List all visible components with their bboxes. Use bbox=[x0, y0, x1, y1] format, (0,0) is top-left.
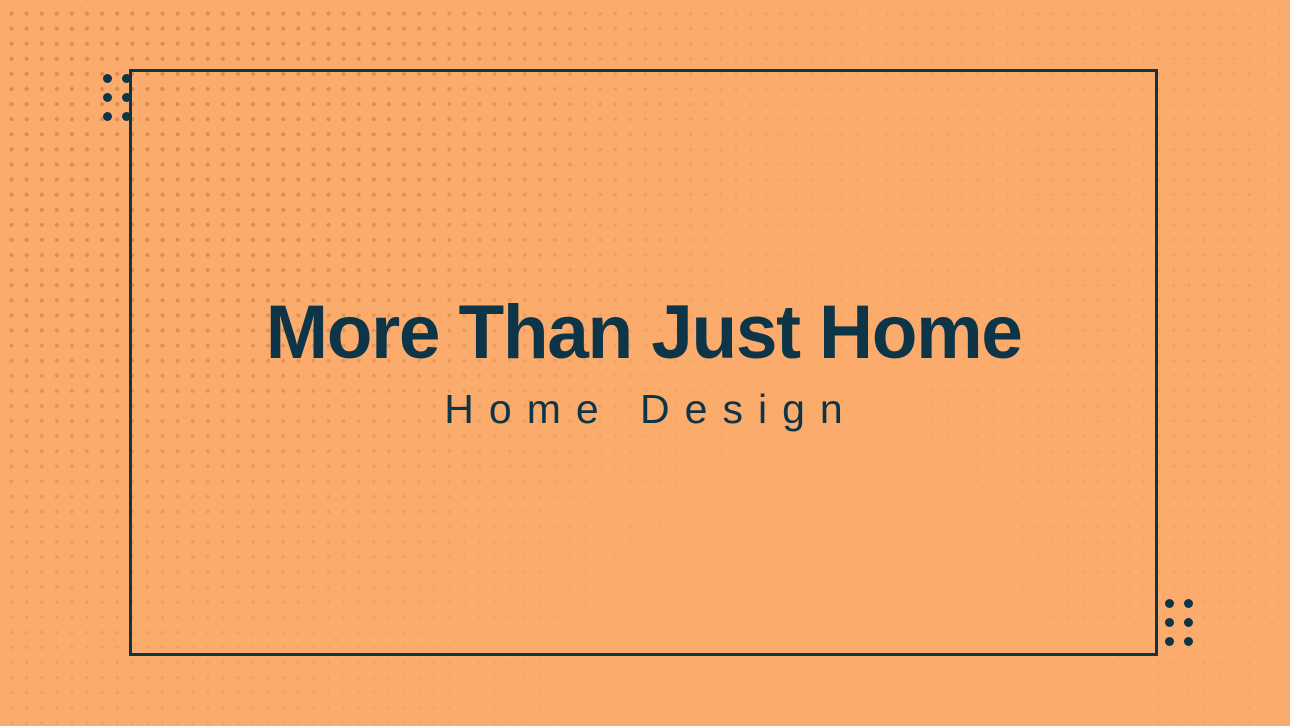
presentation-slide: More Than Just Home Home Design bbox=[0, 0, 1290, 726]
decorative-dot bbox=[1184, 618, 1193, 627]
decorative-dot bbox=[1184, 637, 1193, 646]
decorative-dot-cluster-top-left bbox=[103, 74, 131, 121]
decorative-dot bbox=[1165, 637, 1174, 646]
decorative-dot bbox=[1165, 618, 1174, 627]
decorative-dot bbox=[103, 74, 112, 83]
decorative-dot bbox=[1184, 599, 1193, 608]
slide-title: More Than Just Home bbox=[266, 295, 1022, 371]
slide-subtitle: Home Design bbox=[429, 389, 857, 430]
decorative-dot bbox=[103, 93, 112, 102]
slide-text-block: More Than Just Home Home Design bbox=[129, 69, 1158, 656]
decorative-dot-cluster-bottom-right bbox=[1165, 599, 1193, 646]
decorative-dot bbox=[1165, 599, 1174, 608]
decorative-dot bbox=[103, 112, 112, 121]
